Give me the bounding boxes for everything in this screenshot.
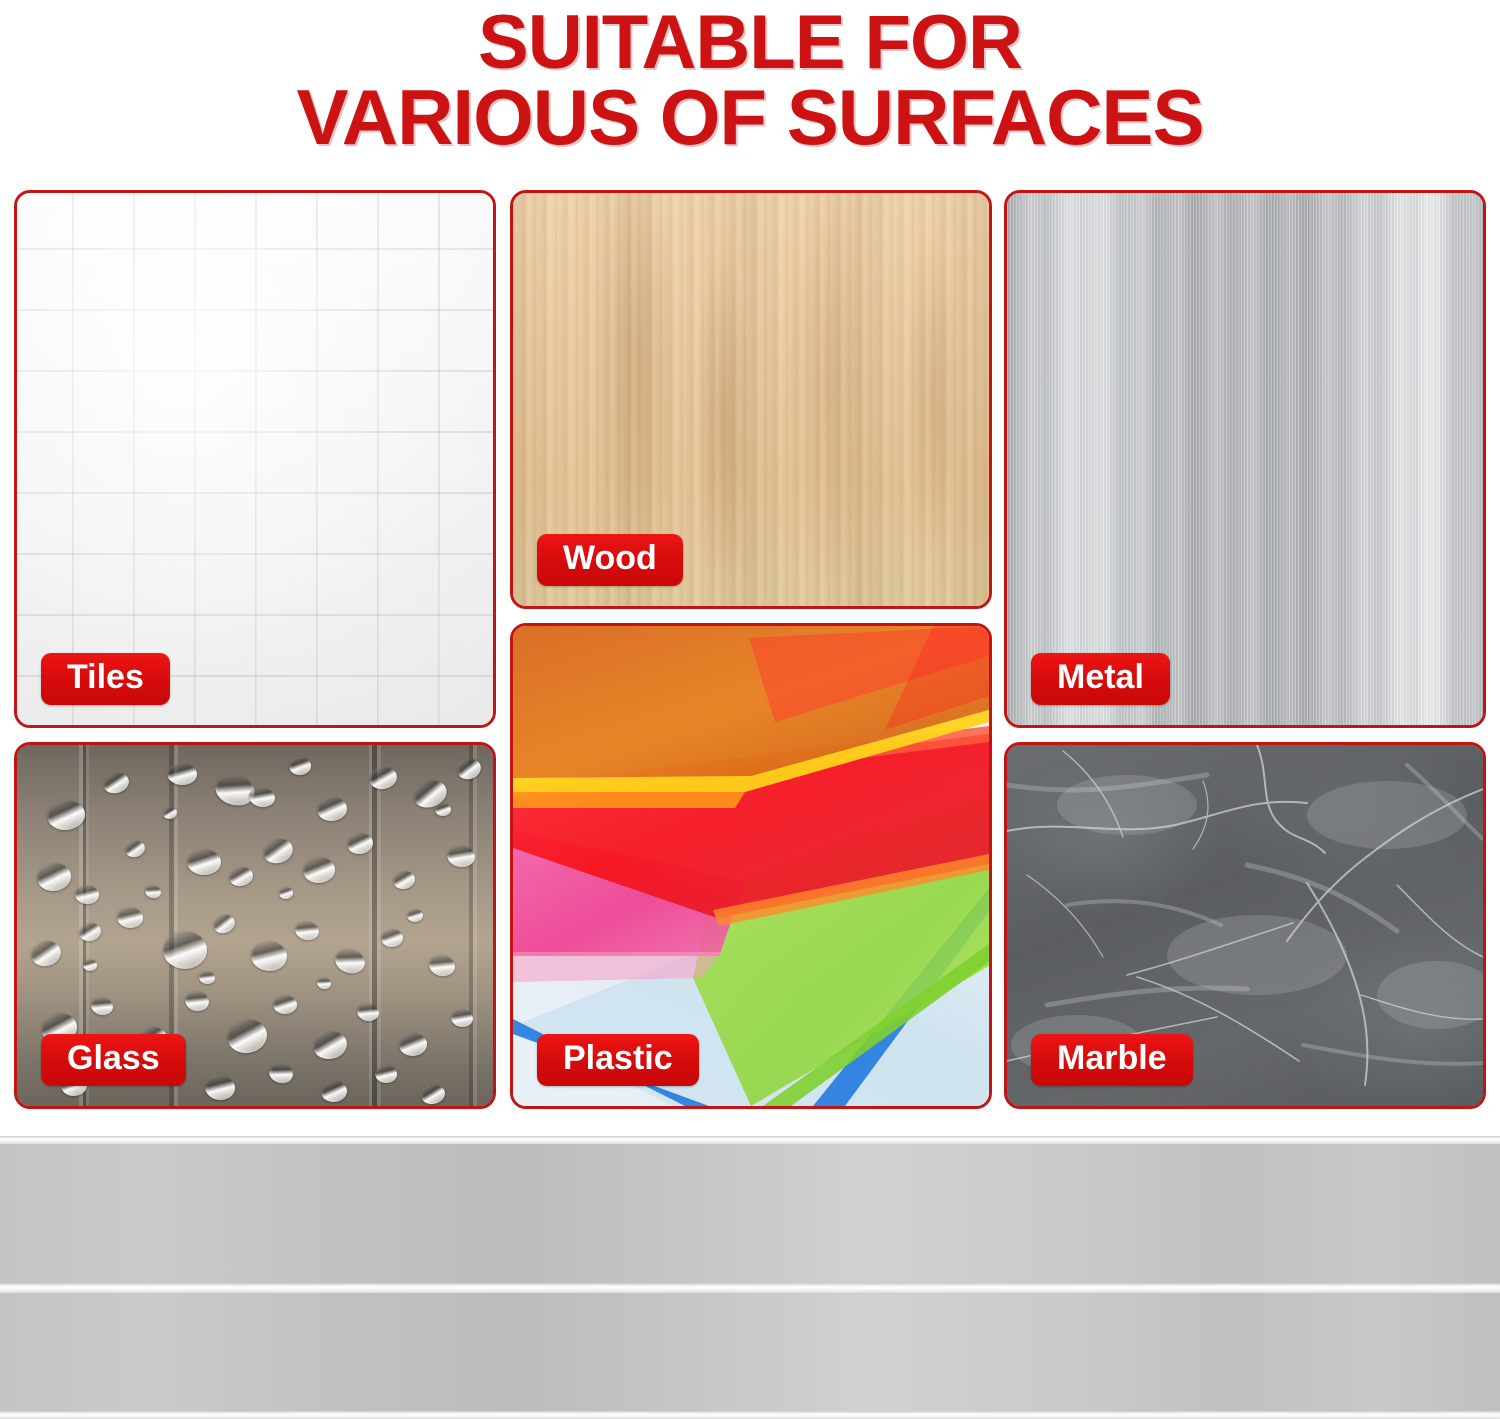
surfaces-infographic: SUITABLE FOR VARIOUS OF SURFACES Tiles W… [0,0,1500,1419]
surface-label-wood: Wood [537,534,683,586]
page-title: SUITABLE FOR VARIOUS OF SURFACES [0,6,1500,155]
panel-band-upper [0,1144,1500,1283]
surface-label-plastic: Plastic [537,1034,699,1086]
surface-card-glass: Glass [14,742,496,1109]
metal-texture [1007,193,1483,725]
surface-card-metal: Metal [1004,190,1486,728]
water-droplet [163,931,207,969]
water-droplet [289,757,311,775]
title-line-1: SUITABLE FOR [0,6,1500,80]
water-droplet [435,803,451,816]
title-line-2: VARIOUS OF SURFACES [0,80,1500,156]
panel-seam-top [0,1136,1500,1144]
panel-seam-middle [0,1283,1500,1293]
surface-card-marble: Marble [1004,742,1486,1109]
surface-card-tiles: Tiles [14,190,496,728]
bottom-metal-panel [0,1136,1500,1419]
panel-band-lower [0,1293,1500,1411]
water-droplet [381,929,403,947]
surface-label-tiles: Tiles [41,653,170,705]
panel-seam-bottom [0,1411,1500,1419]
tiles-texture [17,193,493,725]
surface-label-metal: Metal [1031,653,1170,705]
surface-label-glass: Glass [41,1034,186,1086]
surface-grid: Tiles Wood Metal Glass [14,190,1486,1110]
surface-card-plastic: Plastic [510,623,992,1109]
surface-label-marble: Marble [1031,1034,1193,1086]
water-droplet [279,887,293,899]
surface-card-wood: Wood [510,190,992,609]
